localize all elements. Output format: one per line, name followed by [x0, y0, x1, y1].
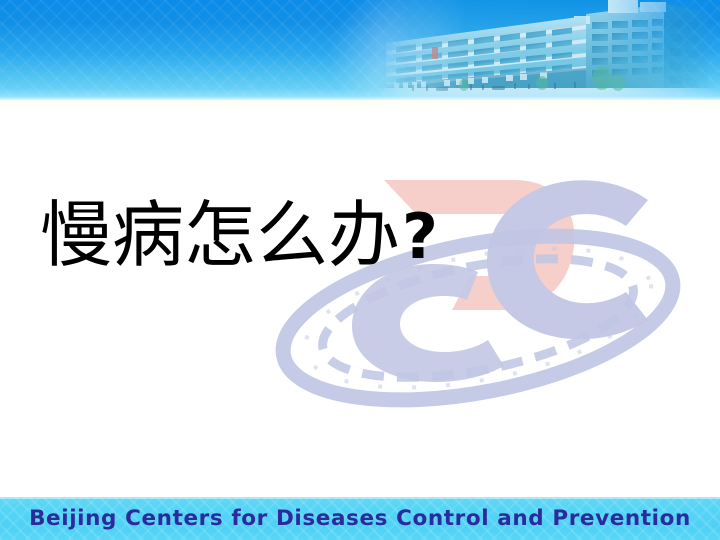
page-title: 慢病怎么办?	[40, 197, 640, 275]
presentation-slide: 慢病怎么办? Beijing Centers for Diseases Cont…	[0, 0, 720, 540]
cdc-headquarters-building-photo	[378, 0, 720, 101]
footer-organization-name: Beijing Centers for Diseases Control and…	[0, 497, 720, 540]
header-banner	[0, 0, 720, 101]
header-cream-strip	[0, 100, 720, 114]
footer-bar: Beijing Centers for Diseases Control and…	[0, 497, 720, 540]
page-title-question-mark: ?	[402, 200, 438, 273]
page-title-cjk: 慢病怎么办	[40, 193, 400, 277]
